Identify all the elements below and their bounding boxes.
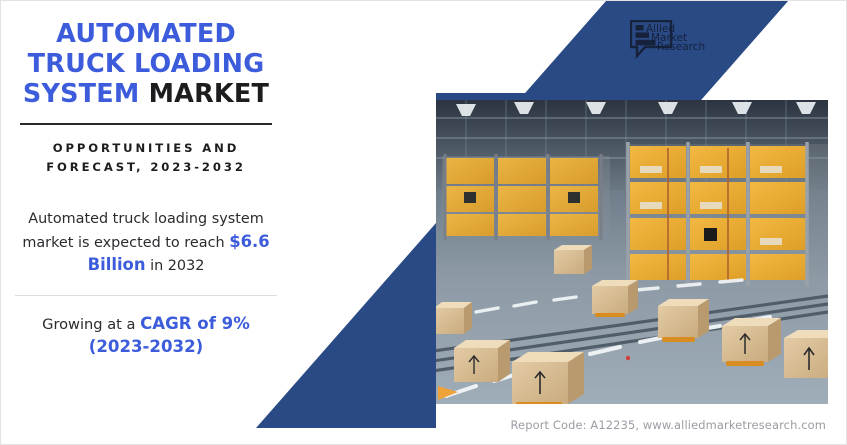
cagr-prefix: Growing at a — [42, 316, 135, 333]
warehouse-photo — [436, 100, 828, 404]
infographic-card: AUTOMATED TRUCK LOADING SYSTEM MARKET OP… — [0, 0, 847, 445]
market-size-statement: Automated truck loading system market is… — [13, 209, 279, 276]
page-title: AUTOMATED TRUCK LOADING SYSTEM MARKET — [13, 19, 279, 109]
allied-market-research-logo-icon: Allied Market Research — [630, 20, 712, 64]
title-market-word: MARKET — [149, 79, 270, 109]
warehouse-photo-illustration — [436, 100, 828, 404]
brand-logo[interactable]: Allied Market Research — [630, 20, 712, 64]
report-footer-caption: Report Code: A12235, www.alliedmarketres… — [510, 418, 826, 432]
market-size-prefix: Automated truck loading system market is… — [22, 211, 263, 250]
cagr-statement: Growing at a CAGR of 9% (2023-2032) — [13, 313, 279, 359]
title-divider — [20, 123, 272, 125]
bottom-wedge-triangle-tail — [301, 391, 436, 428]
report-subtitle: OPPORTUNITIES AND FORECAST, 2023-2032 — [13, 139, 279, 177]
title-line-3-wrap: SYSTEM MARKET — [13, 79, 279, 109]
title-line-3: SYSTEM — [23, 79, 140, 109]
logo-text-line-3: Research — [657, 41, 705, 53]
title-line-1: AUTOMATED — [13, 19, 279, 49]
top-banner-parallelogram — [436, 1, 788, 100]
left-text-column: AUTOMATED TRUCK LOADING SYSTEM MARKET OP… — [1, 1, 291, 445]
title-line-2: TRUCK LOADING — [13, 49, 279, 79]
market-size-suffix: in 2032 — [150, 258, 204, 274]
stat-divider — [15, 295, 277, 297]
